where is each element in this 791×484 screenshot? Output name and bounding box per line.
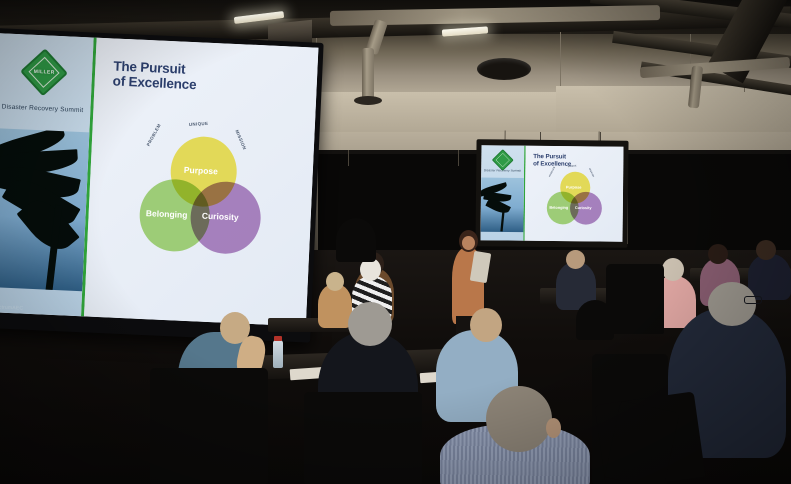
mirrored-slide-subtitle: Disaster Recovery Summit [481,169,524,173]
audience-head-far-right [756,240,776,260]
drape-hanger-2 [458,150,459,166]
audience-head-lightblue [470,308,502,342]
slide-left-panel: MILLER Disaster Recovery Summit Spectrum… [0,33,94,316]
secondary-projection-screen: Disaster Recovery Summit The Pursuit of … [475,139,628,248]
mirrored-title-line1: The Pursuit [533,152,566,159]
drape-hanger-1 [348,150,349,166]
audience-head-dark-suit [348,302,392,346]
chair-back-left [336,218,376,262]
presenter-face [462,236,475,250]
water-bottle-cap [274,336,282,341]
audience-head-back-1 [326,272,344,291]
palm-tree-photo [0,128,90,291]
miller-logo-icon [492,149,514,171]
duct-round-vent [477,58,531,80]
main-television-display[interactable]: MILLER Disaster Recovery Summit Spectrum… [0,28,324,343]
audience-person-far-right [748,254,791,300]
venn-arc-label-mission: MISSION [234,129,247,151]
mirrored-slide-right-panel: The Pursuit of Excellence Purpose Belong… [525,146,624,242]
venn-arc-label-problem: PROBLEM [146,123,162,147]
mirrored-slide-title: The Pursuit of Excellence [533,152,571,167]
mirrored-venn-diagram: Purpose Belonging Curiosity UNIQUE PROBL… [546,171,602,225]
venn-label-curiosity: Curiosity [202,211,239,223]
venn-label-purpose: Purpose [184,165,218,177]
mirrored-slide-left-panel: Disaster Recovery Summit [481,145,525,241]
chair-av-stand [606,264,664,334]
foreground-person-ear [546,418,561,438]
slide-title: The Pursuit of Excellence [112,58,197,94]
chair-front-mid [304,392,422,484]
projector-screen-hanger-left [505,131,506,140]
mirrored-slide: Disaster Recovery Summit The Pursuit of … [481,145,624,241]
audience-head-right-pink [662,258,684,281]
audience-head-right-navy [708,282,756,326]
audience-head-right-purple [708,244,728,264]
audience-head-mid-right [566,250,585,269]
slide-subtitle: Disaster Recovery Summit [0,103,91,114]
tv-screen: MILLER Disaster Recovery Summit Spectrum… [0,33,318,326]
slide-title-line2: of Excellence [112,74,196,93]
ceiling-rod-3 [560,24,561,86]
water-bottle [273,340,283,368]
slide-right-panel: The Pursuit of Excellence Purpose Belong… [84,38,318,327]
conference-room-photo: Disaster Recovery Summit The Pursuit of … [0,0,791,484]
duct-downspout [362,48,374,100]
mirrored-palm-image [481,178,524,233]
foreground-person-head [486,386,552,452]
presentation-slide: MILLER Disaster Recovery Summit Spectrum… [0,33,318,326]
chair-front-left [150,368,268,484]
venn-diagram: Purpose Belonging Curiosity PROBLEM UNIQ… [137,134,264,257]
glasses-icon [744,296,762,304]
venn-label-belonging: Belonging [146,209,188,221]
projector-screen-hanger-right [599,131,600,140]
projection-screen-image: Disaster Recovery Summit The Pursuit of … [481,145,624,241]
venn-arc-label-unique: UNIQUE [189,121,209,127]
spectrum-aec-brand: SpectrumAEC [0,304,23,312]
duct-flange [354,96,382,105]
miller-logo-text: MILLER [34,68,55,75]
